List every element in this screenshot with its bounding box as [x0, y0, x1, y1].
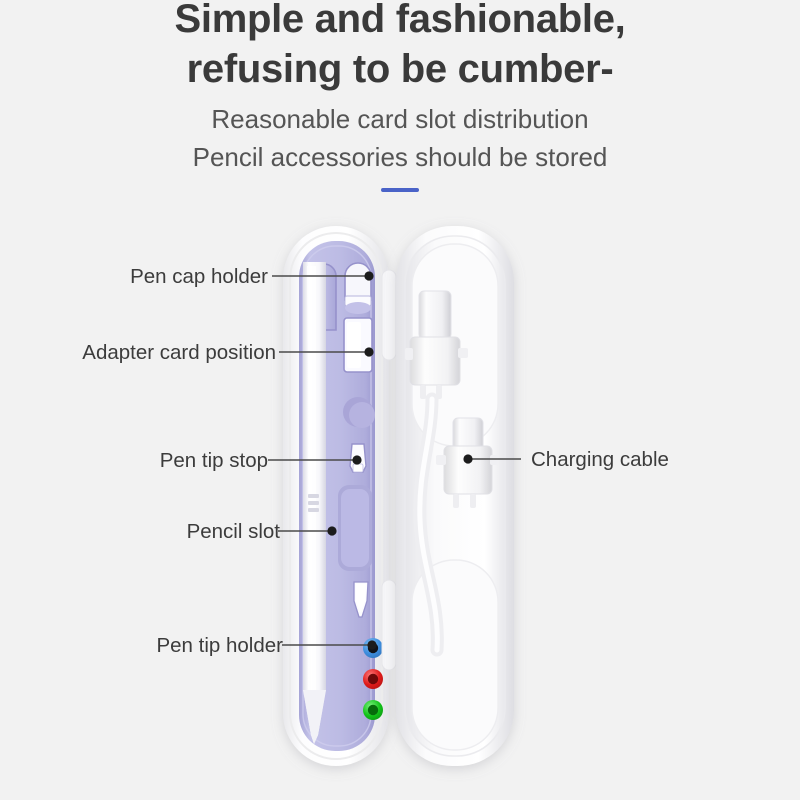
pen-tip-holder-green — [363, 700, 383, 720]
leader-dot-pen-tip-stop — [352, 455, 361, 464]
callout-label-pen-tip-stop: Pen tip stop — [160, 451, 268, 472]
pencil-slot-channel-inner — [341, 489, 369, 567]
hinge-upper — [382, 270, 396, 360]
leader-dot-pen-cap-holder — [364, 271, 373, 280]
cable-plug-upper-wing-right — [458, 348, 468, 358]
purple-tray — [299, 241, 375, 751]
leader-dot-charging-cable — [463, 454, 472, 463]
case-lid-inner — [405, 236, 505, 756]
subtitle-line-2: Pencil accessories should be stored — [0, 138, 800, 176]
case-base-rim — [290, 233, 382, 759]
cable-plug-upper-prong-right — [436, 385, 442, 399]
case-lid — [396, 226, 514, 766]
callout-label-adapter-card-position: Adapter card position — [82, 343, 276, 364]
accent-divider — [381, 188, 419, 192]
subtitle-line-1: Reasonable card slot distribution — [0, 100, 800, 138]
pen-tip-holder-blue — [363, 638, 383, 658]
callout-leader-dots — [327, 271, 472, 649]
pen-tip-holder-recess — [354, 582, 368, 617]
pen-tip-stop-base — [353, 464, 363, 472]
pen-cap-holder-slot-left — [312, 264, 336, 330]
pen-tip-holder-recess-inner — [356, 584, 366, 612]
cable-plug-upper-tip — [419, 291, 451, 339]
case-lid-upper-well — [412, 244, 498, 446]
circular-recess-inner — [349, 402, 375, 428]
cable-wire-highlight — [420, 399, 438, 650]
cable-plug-lower-wing-right — [490, 455, 498, 465]
cable-plug-upper-body — [410, 337, 460, 385]
adapter-card-slot — [344, 318, 372, 372]
pen-cap-holder-shadow — [345, 302, 371, 314]
page-title-line-2: refusing to be cumber- — [0, 44, 800, 94]
header: Simple and fashionable, refusing to be c… — [0, 0, 800, 192]
pencil-slot-channel — [338, 485, 372, 571]
callout-label-pencil-slot: Pencil slot — [187, 522, 280, 543]
cable-plug-lower-prong-left — [453, 494, 459, 508]
apple-pencil-band-2 — [308, 501, 319, 505]
apple-pencil-band-1 — [308, 494, 319, 498]
circular-recess — [343, 397, 373, 427]
callout-label-pen-tip-holder: Pen tip holder — [156, 636, 283, 657]
page-title-line-1: Simple and fashionable, — [0, 0, 800, 44]
pen-cap-holder-base — [345, 296, 371, 306]
apple-pencil-tip — [303, 690, 326, 744]
cable-plug-lower-body — [444, 446, 492, 494]
pen-cap-holder-slot-right — [345, 263, 371, 300]
leader-dot-adapter-card — [364, 347, 373, 356]
charging-cable-assembly — [405, 291, 498, 650]
pen-tip-holder-red-center — [368, 674, 378, 684]
case-base — [283, 226, 389, 766]
hinge-lower — [382, 580, 396, 670]
pen-tip-stop-slot — [350, 444, 366, 472]
leader-dot-pen-tip-holder — [367, 640, 376, 649]
apple-pencil-highlight — [307, 266, 316, 722]
purple-tray-highlight — [303, 246, 371, 746]
pen-tip-holder-blue-center — [368, 643, 378, 653]
leader-dot-pencil-slot — [327, 526, 336, 535]
pen-tip-holder-green-center — [368, 705, 378, 715]
case-lid-shell — [396, 226, 514, 766]
callout-leader-lines — [268, 276, 521, 645]
cable-plug-lower-wing-left — [436, 455, 446, 465]
cable-plug-upper-wing-left — [405, 348, 413, 360]
apple-pencil — [303, 262, 326, 744]
callout-label-pen-cap-holder: Pen cap holder — [130, 267, 268, 288]
apple-pencil-band-3 — [308, 508, 319, 512]
cable-wire — [420, 399, 438, 650]
adapter-card-slot-highlight — [347, 322, 361, 368]
cable-plug-lower-tip — [453, 418, 483, 460]
case-hinge — [382, 270, 396, 670]
callout-label-charging-cable: Charging cable — [531, 450, 669, 471]
cable-plug-lower-prong-right — [470, 494, 476, 508]
apple-pencil-body — [303, 262, 326, 744]
cable-plug-upper-prong-left — [420, 385, 426, 399]
pen-tip-holder-dots — [363, 638, 383, 720]
case-lid-lower-well — [412, 560, 498, 750]
pen-tip-holder-red — [363, 669, 383, 689]
case-base-shell — [283, 226, 389, 766]
